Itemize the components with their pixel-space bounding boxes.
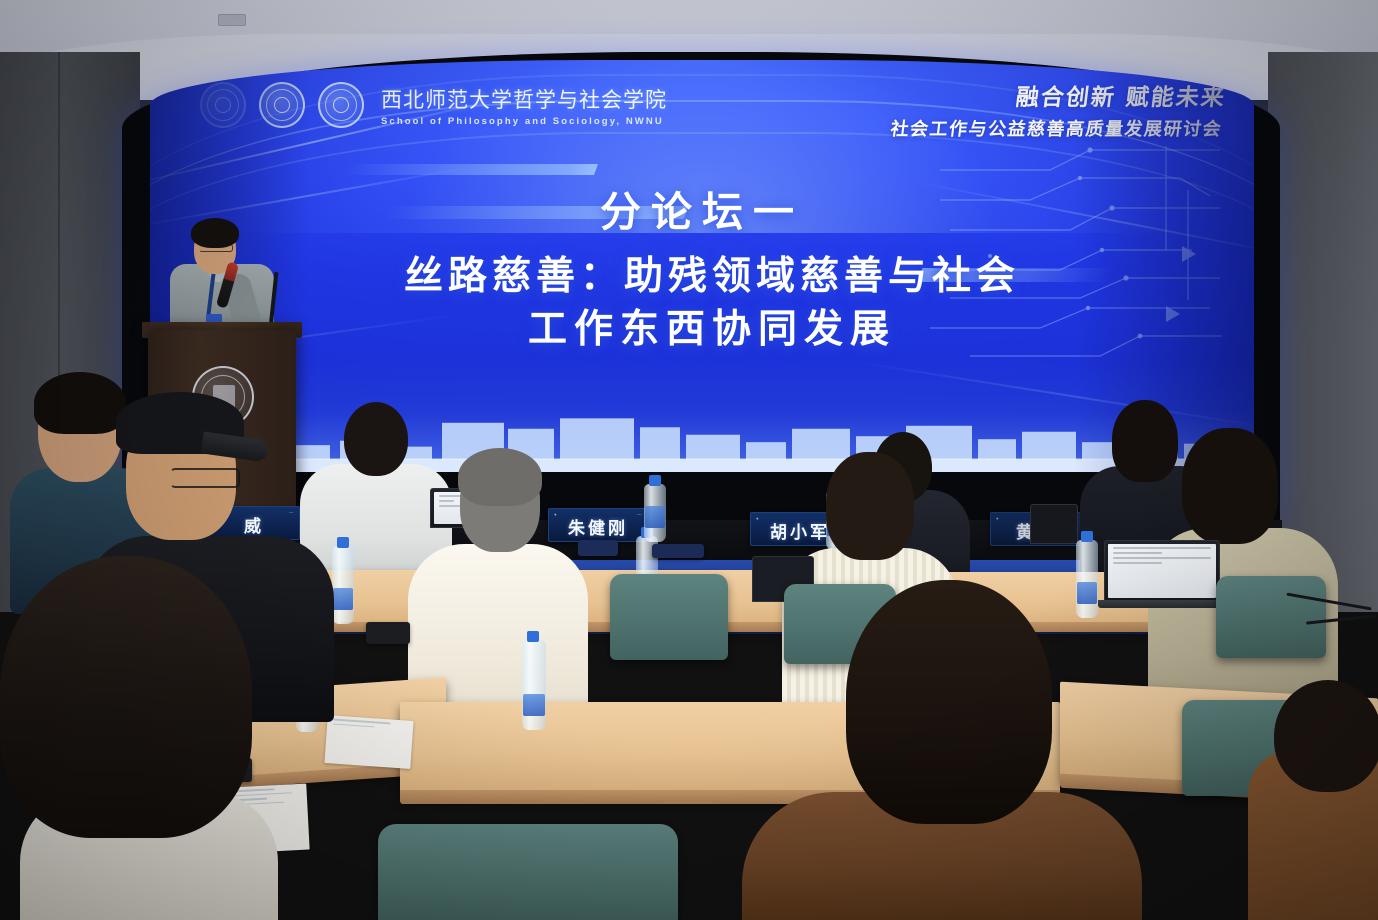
ceiling-vent-icon (218, 14, 246, 26)
laptop-line (1113, 547, 1211, 549)
forum-subtitle-line1: 丝路慈善：助残领域慈善与社会 (404, 253, 1020, 299)
attendee-hair (0, 556, 252, 838)
accent-bar (344, 164, 598, 175)
chair-front-center[interactable] (378, 824, 678, 920)
attendee-head (344, 402, 408, 476)
paper-line (333, 723, 374, 727)
chair-row2-c[interactable] (1216, 576, 1326, 658)
phone-1[interactable] (366, 622, 410, 644)
laptop-3[interactable] (1030, 504, 1078, 544)
university-name-block: 西北师范大学哲学与社会学院 School of Philosophy and S… (381, 84, 667, 127)
attendee-fg-brown-coat (742, 580, 1142, 920)
attendee-head (1274, 680, 1378, 792)
chair-row2-a[interactable] (610, 574, 728, 660)
conference-room-scene: 西北师范大学哲学与社会学院 School of Philosophy and S… (0, 0, 1378, 920)
school-emblem-icon (318, 82, 364, 128)
attendee-head (846, 580, 1052, 824)
paper-document-2 (324, 715, 413, 769)
attendee-head (826, 452, 914, 560)
water-bottle-1 (332, 546, 354, 624)
university-name-cn: 西北师范大学哲学与社会学院 (381, 84, 667, 114)
attendee-fg-far-right (1248, 680, 1378, 920)
attendee-head (1182, 428, 1278, 544)
laptop-line (1113, 552, 1162, 554)
water-bottle-7 (522, 640, 546, 730)
university-name-en: School of Philosophy and Sociology, NWNU (381, 116, 667, 127)
laptop-line (1113, 562, 1162, 564)
glasses-icon (199, 244, 233, 252)
attendee-fg-long-hair (0, 556, 290, 920)
forum-subtitle-line2: 工作东西协同发展 (210, 303, 1214, 356)
phone-3[interactable] (578, 540, 618, 556)
attendee-hair (458, 448, 542, 506)
forum-subtitle: 丝路慈善：助残领域慈善与社会 工作东西协同发展 (210, 250, 1214, 355)
laptop-line (1113, 557, 1211, 559)
glasses-icon (170, 468, 240, 488)
phone-4[interactable] (652, 544, 704, 558)
water-bottle-5 (644, 484, 666, 542)
